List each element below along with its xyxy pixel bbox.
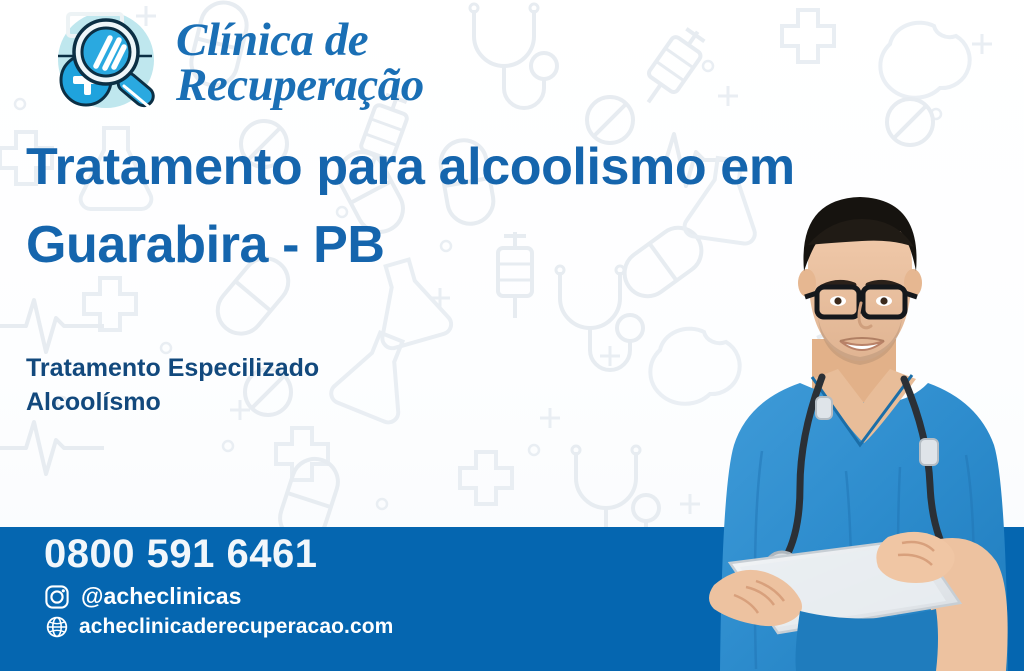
- contact-info: 0800 591 6461 @acheclinicas: [44, 533, 393, 643]
- website-url: acheclinicaderecuperacao.com: [79, 615, 393, 638]
- phone-number[interactable]: 0800 591 6461: [44, 533, 393, 575]
- magnifier-medical-plus-icon: [44, 8, 166, 116]
- subtitle-line-2: Alcoolísmo: [26, 386, 546, 420]
- instagram-link[interactable]: @acheclinicas: [44, 584, 393, 610]
- promo-poster: Clínica de Recuperação Tratamento para a…: [0, 0, 1024, 671]
- instagram-handle: @acheclinicas: [81, 584, 242, 609]
- brand-logo-text: Clínica de Recuperação: [176, 18, 424, 108]
- headline-line-1: Tratamento para alcoolismo em: [26, 128, 856, 206]
- subtitle: Tratamento Especilizado Alcoolísmo: [26, 352, 546, 419]
- subtitle-line-1: Tratamento Especilizado: [26, 352, 546, 386]
- brand-logo[interactable]: Clínica de Recuperação: [44, 8, 424, 116]
- website-link[interactable]: acheclinicaderecuperacao.com: [44, 615, 393, 638]
- page-title: Tratamento para alcoolismo em Guarabira …: [26, 128, 856, 284]
- brand-logo-line2: Recuperação: [176, 63, 424, 108]
- instagram-icon: [44, 584, 70, 610]
- headline-line-2: Guarabira - PB: [26, 206, 856, 284]
- globe-icon: [46, 616, 68, 638]
